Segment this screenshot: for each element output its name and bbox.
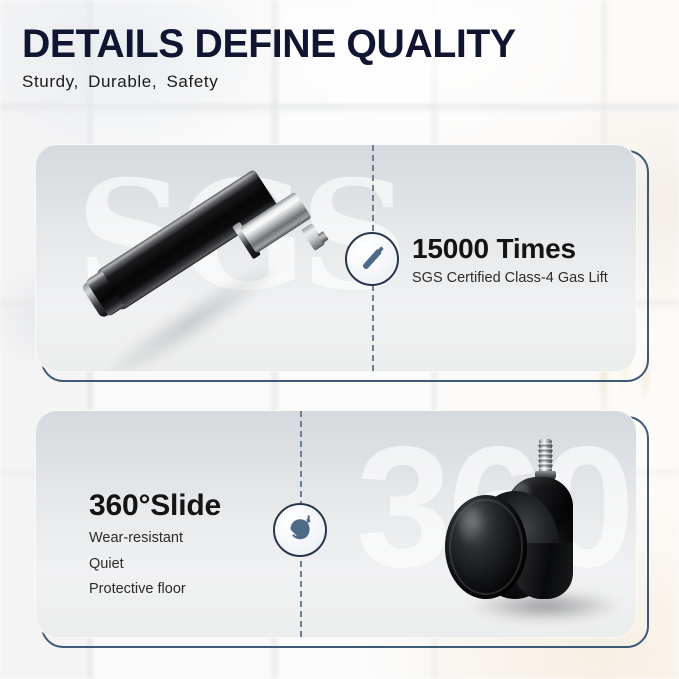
card-surface: 360 360°Slide Wear-resistant Quiet Prote…: [35, 410, 637, 638]
feature-headline: 360°Slide: [89, 489, 221, 523]
feature-text-caster: 360°Slide Wear-resistant Quiet Protectiv…: [89, 489, 221, 600]
caster-wheel-gloss: [457, 507, 487, 545]
feature-text-gas-lift: 15000 Times SGS Certified Class-4 Gas Li…: [412, 233, 608, 286]
feature-detail-line: Wear-resistant: [89, 528, 221, 549]
feature-detail-line: Quiet: [89, 554, 221, 575]
feature-detail-line: SGS Certified Class-4 Gas Lift: [412, 270, 608, 286]
caster-wheel-icon: [273, 503, 327, 557]
window-sill-line: [0, 104, 679, 114]
caster-wheel-photo: [431, 423, 631, 635]
caster-stem-ridges: [538, 443, 553, 469]
feature-card-caster: 360 360°Slide Wear-resistant Quiet Prote…: [35, 410, 643, 648]
gas-lift-cylinder-icon: [345, 232, 399, 286]
card-surface: SGS 15000 Times SGS Certified Class-4 Ga…: [35, 144, 637, 372]
page-subtitle: Sturdy, Durable, Safety: [22, 72, 642, 92]
gas-lift-cylinder-photo: [50, 155, 350, 370]
page-title: DETAILS DEFINE QUALITY: [22, 24, 630, 65]
header: DETAILS DEFINE QUALITY Sturdy, Durable, …: [22, 24, 642, 92]
feature-headline: 15000 Times: [412, 233, 608, 265]
feature-card-gas-lift: SGS 15000 Times SGS Certified Class-4 Ga…: [35, 144, 643, 382]
feature-detail-line: Protective floor: [89, 579, 221, 600]
